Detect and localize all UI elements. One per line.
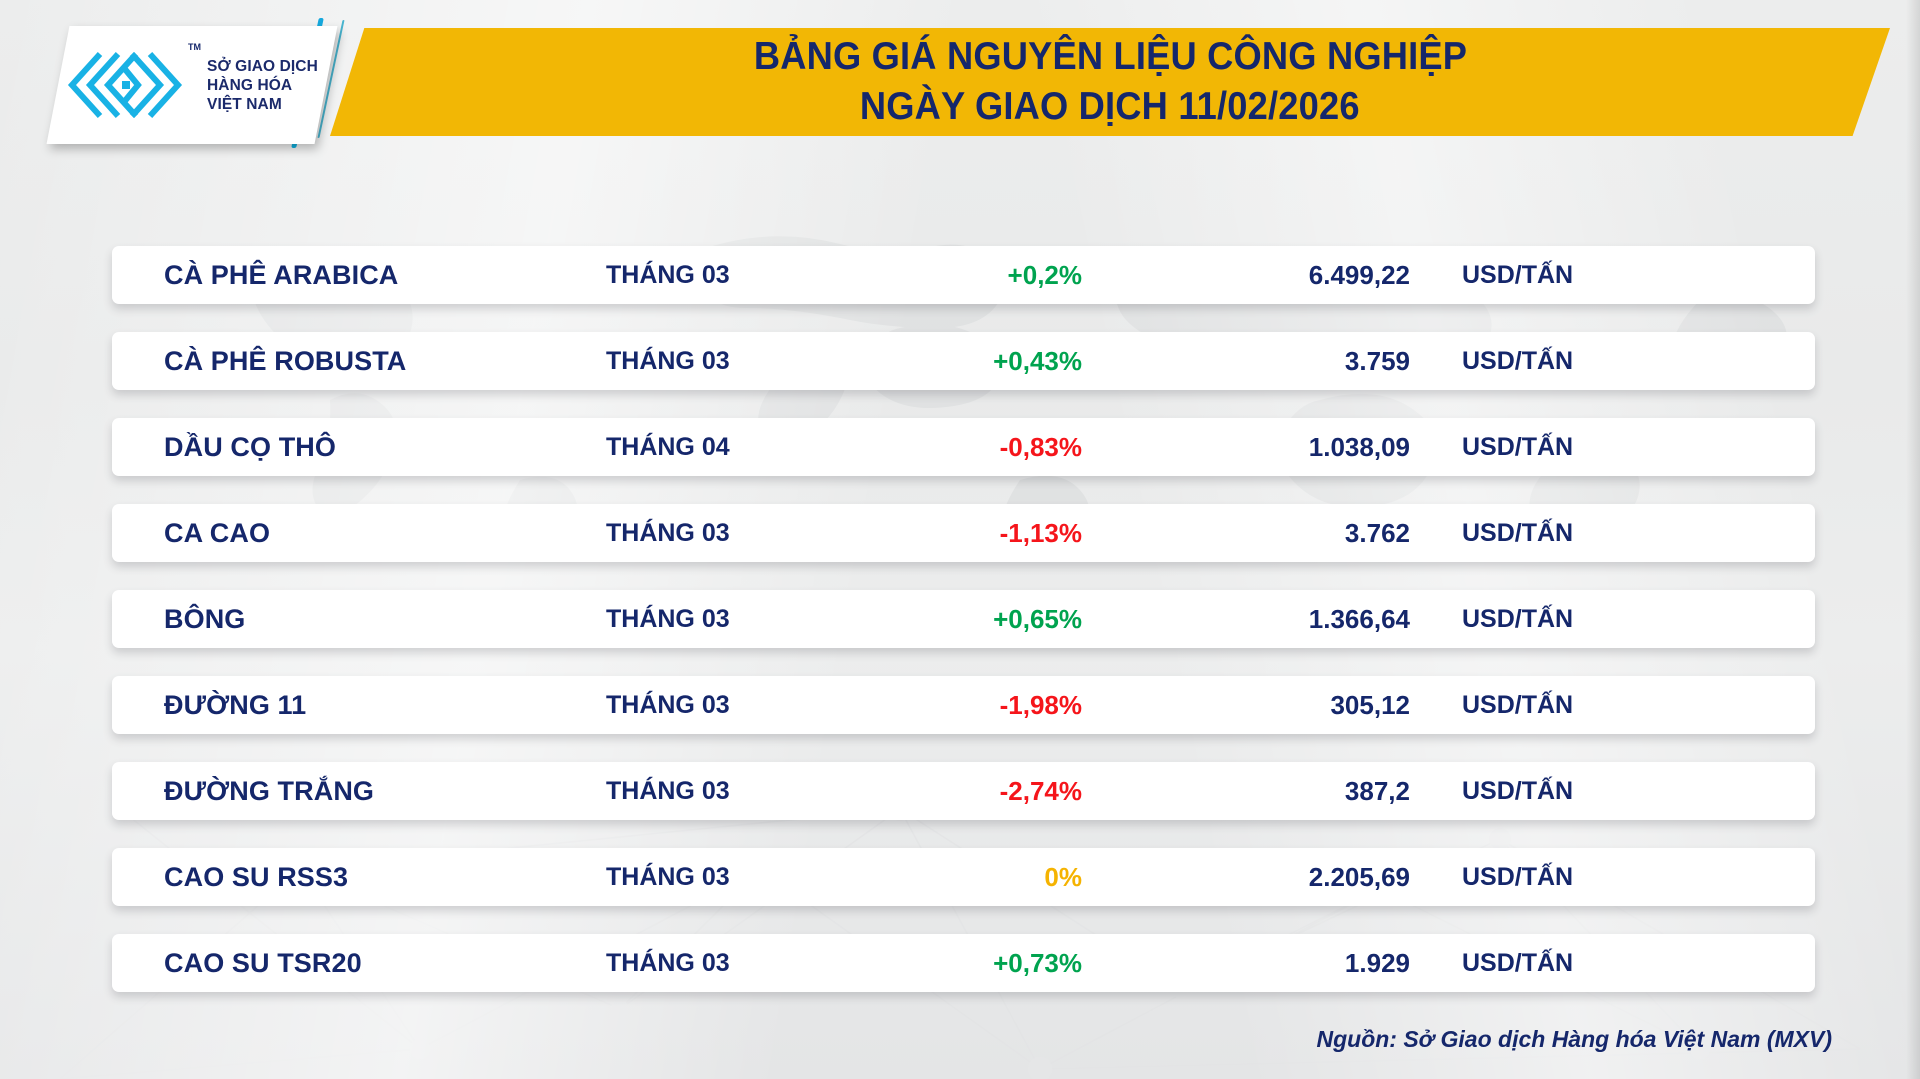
page-header: BẢNG GIÁ NGUYÊN LIỆU CÔNG NGHIỆP NGÀY GI… [0, 0, 1920, 165]
commodity-name: CÀ PHÊ ARABICA [164, 260, 398, 291]
contract-month: THÁNG 03 [606, 949, 826, 978]
commodity-name: CÀ PHÊ ROBUSTA [164, 346, 406, 377]
price-unit: USD/TẤN [1462, 777, 1573, 806]
contract-month: THÁNG 04 [606, 433, 826, 462]
price-board-page: BẢNG GIÁ NGUYÊN LIỆU CÔNG NGHIỆP NGÀY GI… [0, 0, 1920, 1079]
price-unit: USD/TẤN [1462, 261, 1573, 290]
table-row[interactable]: DẦU CỌ THÔTHÁNG 04-0,83%1.038,09USD/TẤN [112, 418, 1815, 476]
change-percent: 0% [802, 862, 1082, 893]
commodity-name: ĐƯỜNG TRẮNG [164, 776, 374, 807]
price-unit: USD/TẤN [1462, 949, 1573, 978]
contract-month: THÁNG 03 [606, 261, 826, 290]
price-value: 305,12 [1112, 690, 1410, 721]
contract-month: THÁNG 03 [606, 519, 826, 548]
price-unit: USD/TẤN [1462, 863, 1573, 892]
title-block: BẢNG GIÁ NGUYÊN LIỆU CÔNG NGHIỆP NGÀY GI… [330, 28, 1890, 136]
price-value: 6.499,22 [1112, 260, 1410, 291]
change-percent: +0,43% [802, 346, 1082, 377]
table-row[interactable]: BÔNGTHÁNG 03+0,65%1.366,64USD/TẤN [112, 590, 1815, 648]
change-percent: -2,74% [802, 776, 1082, 807]
price-unit: USD/TẤN [1462, 347, 1573, 376]
contract-month: THÁNG 03 [606, 777, 826, 806]
price-value: 3.759 [1112, 346, 1410, 377]
page-title-line1: BẢNG GIÁ NGUYÊN LIỆU CÔNG NGHIỆP [753, 32, 1466, 82]
table-row[interactable]: CA CAOTHÁNG 03-1,13%3.762USD/TẤN [112, 504, 1815, 562]
commodity-name: DẦU CỌ THÔ [164, 432, 336, 463]
change-percent: -1,13% [802, 518, 1082, 549]
price-unit: USD/TẤN [1462, 691, 1573, 720]
price-value: 1.929 [1112, 948, 1410, 979]
table-row[interactable]: CAO SU TSR20THÁNG 03+0,73%1.929USD/TẤN [112, 934, 1815, 992]
price-value: 3.762 [1112, 518, 1410, 549]
source-note: Nguồn: Sở Giao dịch Hàng hóa Việt Nam (M… [1316, 1026, 1832, 1053]
change-percent: -1,98% [802, 690, 1082, 721]
price-value: 1.366,64 [1112, 604, 1410, 635]
logo-line-2: HÀNG HÓA [207, 76, 318, 95]
price-unit: USD/TẤN [1462, 605, 1573, 634]
commodity-name: CAO SU TSR20 [164, 948, 362, 979]
table-row[interactable]: CÀ PHÊ ROBUSTATHÁNG 03+0,43%3.759USD/TẤN [112, 332, 1815, 390]
contract-month: THÁNG 03 [606, 347, 826, 376]
price-unit: USD/TẤN [1462, 433, 1573, 462]
trademark-icon: TM [188, 42, 201, 52]
mxv-chevron-icon [66, 46, 184, 124]
logo-line-1: SỞ GIAO DỊCH [207, 57, 318, 76]
change-percent: -0,83% [802, 432, 1082, 463]
contract-month: THÁNG 03 [606, 863, 826, 892]
table-row[interactable]: ĐƯỜNG 11THÁNG 03-1,98%305,12USD/TẤN [112, 676, 1815, 734]
commodity-name: BÔNG [164, 604, 245, 635]
commodity-name: CA CAO [164, 518, 270, 549]
price-table: CÀ PHÊ ARABICATHÁNG 03+0,2%6.499,22USD/T… [112, 246, 1815, 1020]
commodity-name: CAO SU RSS3 [164, 862, 348, 893]
page-title-line2: NGÀY GIAO DỊCH 11/02/2026 [860, 82, 1360, 132]
change-percent: +0,65% [802, 604, 1082, 635]
change-percent: +0,73% [802, 948, 1082, 979]
table-row[interactable]: CAO SU RSS3THÁNG 030%2.205,69USD/TẤN [112, 848, 1815, 906]
logo-wordmark: SỞ GIAO DỊCH HÀNG HÓA VIỆT NAM [207, 57, 318, 114]
logo-line-3: VIỆT NAM [207, 95, 318, 114]
change-percent: +0,2% [802, 260, 1082, 291]
table-row[interactable]: CÀ PHÊ ARABICATHÁNG 03+0,2%6.499,22USD/T… [112, 246, 1815, 304]
table-row[interactable]: ĐƯỜNG TRẮNGTHÁNG 03-2,74%387,2USD/TẤN [112, 762, 1815, 820]
contract-month: THÁNG 03 [606, 605, 826, 634]
price-value: 2.205,69 [1112, 862, 1410, 893]
price-unit: USD/TẤN [1462, 519, 1573, 548]
price-value: 387,2 [1112, 776, 1410, 807]
commodity-name: ĐƯỜNG 11 [164, 690, 306, 721]
contract-month: THÁNG 03 [606, 691, 826, 720]
logo: TM SỞ GIAO DỊCH HÀNG HÓA VIỆT NAM [58, 26, 326, 144]
price-value: 1.038,09 [1112, 432, 1410, 463]
